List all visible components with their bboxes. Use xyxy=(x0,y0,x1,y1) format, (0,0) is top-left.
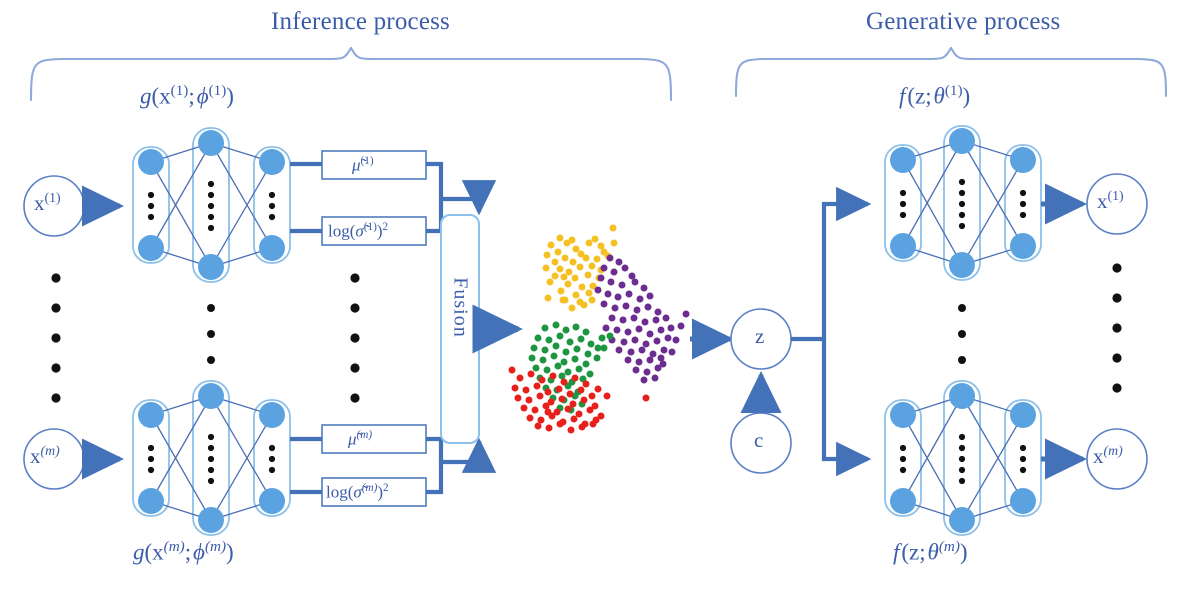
scatter-point xyxy=(678,323,685,330)
scatter-point xyxy=(639,347,646,354)
scatter-point xyxy=(556,386,563,393)
scatter-point xyxy=(643,395,650,402)
scatter-point xyxy=(517,375,524,382)
scatter-point xyxy=(565,406,572,413)
inference-network-2 xyxy=(24,381,479,535)
label-mu-box-m: μ̃(m) xyxy=(348,429,372,450)
scatter-point xyxy=(543,403,550,410)
scatter-point xyxy=(565,369,572,376)
scatter-point xyxy=(548,242,555,249)
scatter-series-cluster-purple xyxy=(595,255,690,384)
scatter-point xyxy=(552,259,559,266)
scatter-point xyxy=(645,304,652,311)
label-input-x1-sup: (1) xyxy=(45,190,61,205)
formula-encoder-1-g: g xyxy=(140,84,152,109)
scatter-point xyxy=(661,347,668,354)
scatter-point xyxy=(632,337,639,344)
scatter-point xyxy=(576,411,583,418)
scatter-point xyxy=(652,375,659,382)
scatter-point xyxy=(586,240,593,247)
scatter-point xyxy=(544,367,551,374)
formula-decoder-m-theta: θ xyxy=(928,540,939,565)
scatter-point xyxy=(665,335,672,342)
scatter-point xyxy=(586,290,593,297)
scatter-point xyxy=(570,259,577,266)
scatter-point xyxy=(608,279,615,286)
scatter-point xyxy=(553,343,560,350)
label-input-xm: x(m) xyxy=(30,443,60,469)
scatter-point xyxy=(585,351,592,358)
scatter-point xyxy=(559,373,566,380)
formula-encoder-m-close: ) xyxy=(226,540,234,565)
label-logsigma-box-1-sup: (1) xyxy=(364,221,377,233)
scatter-point xyxy=(581,302,588,309)
ellipsis-generative-middle xyxy=(958,304,966,364)
scatter-point xyxy=(567,339,574,346)
scatter-point xyxy=(529,355,536,362)
mu-box-2 xyxy=(322,425,426,453)
scatter-point xyxy=(673,337,680,344)
formula-decoder-m-f: f xyxy=(893,540,899,565)
formula-encoder-1: g(x(1); ϕ(1)) xyxy=(140,82,234,110)
scatter-point xyxy=(526,397,533,404)
mu-box-1 xyxy=(322,151,426,179)
scatter-point xyxy=(683,311,690,318)
scatter-point xyxy=(550,373,557,380)
scatter-point xyxy=(566,269,573,276)
label-logsigma-box-m-power: 2 xyxy=(383,482,389,494)
scatter-point xyxy=(641,377,648,384)
formula-encoder-1-xsup: (1) xyxy=(171,82,189,99)
fusion-label-wrap: Fusion xyxy=(430,296,490,319)
scatter-point xyxy=(542,347,549,354)
bus-sigma1-join xyxy=(426,199,441,231)
scatter-point xyxy=(590,421,597,428)
scatter-point xyxy=(621,339,628,346)
label-mu-box-1: μ̃(1) xyxy=(352,155,374,176)
scatter-point xyxy=(642,319,649,326)
scatter-point xyxy=(583,329,590,336)
scatter-point xyxy=(616,259,623,266)
scatter-point xyxy=(588,341,595,348)
scatter-point xyxy=(545,295,552,302)
scatter-point xyxy=(636,359,643,366)
scatter-point xyxy=(535,423,542,430)
formula-encoder-1-phi: ϕ xyxy=(197,84,209,109)
scatter-point xyxy=(572,275,579,282)
label-logsigma-box-m: log(σ̃(m))2 xyxy=(326,482,389,503)
scatter-point xyxy=(668,325,675,332)
scatter-point xyxy=(629,273,636,280)
formula-decoder-m-semi: ; xyxy=(919,540,925,565)
formula-decoder-m-close: ) xyxy=(960,540,968,565)
scatter-point xyxy=(625,357,632,364)
scatter-point xyxy=(589,297,596,304)
brace-label-generative: Generative process xyxy=(866,8,1060,36)
scatter-point xyxy=(578,387,585,394)
scatter-point xyxy=(571,416,578,423)
scatter-point xyxy=(610,225,617,232)
label-logsigma-box-1-sigma: σ̃ xyxy=(355,222,363,241)
label-output-x1: x(1) xyxy=(1097,188,1124,214)
label-logsigma-box-m-sup: (m) xyxy=(362,482,378,494)
scatter-point xyxy=(616,347,623,354)
label-output-xm-sup: (m) xyxy=(1104,443,1123,458)
formula-decoder-1-close: ) xyxy=(963,84,971,109)
label-logsigma-box-m-sigma: σ̃ xyxy=(353,483,361,502)
scatter-point xyxy=(622,265,629,272)
formula-decoder-1: f (z; θ(1)) xyxy=(899,82,970,110)
formula-decoder-1-f: f xyxy=(899,84,905,109)
scatter-point xyxy=(587,371,594,378)
formula-encoder-1-phisup: (1) xyxy=(209,82,227,99)
scatter-point xyxy=(601,265,608,272)
formula-encoder-m-phisup: (m) xyxy=(205,538,226,555)
scatter-point xyxy=(658,327,665,334)
label-input-xm-sup: (m) xyxy=(41,443,60,458)
scatter-point xyxy=(636,326,643,333)
scatter-point xyxy=(555,363,562,370)
label-mu-box-1-sup: (1) xyxy=(361,155,374,167)
scatter-point xyxy=(572,356,579,363)
scatter-point xyxy=(658,355,665,362)
formula-encoder-m: g(x(m); ϕ(m)) xyxy=(133,538,234,566)
scatter-point xyxy=(607,333,614,340)
scatter-point xyxy=(521,405,528,412)
scatter-series-cluster-red xyxy=(509,367,650,434)
scatter-point xyxy=(619,282,626,289)
scatter-point xyxy=(583,361,590,368)
scatter-point xyxy=(570,401,577,408)
scatter-point xyxy=(546,425,553,432)
formula-decoder-1-theta: θ xyxy=(934,84,945,109)
scatter-point xyxy=(560,297,567,304)
scatter-point xyxy=(625,329,632,336)
formula-encoder-m-semi: ; xyxy=(185,540,191,565)
formula-decoder-m-z: z xyxy=(909,540,919,565)
label-mu-box-1-mu: μ̃ xyxy=(352,156,361,175)
brace-inference xyxy=(31,48,671,100)
scatter-point xyxy=(535,335,542,342)
scatter-point xyxy=(532,407,539,414)
formula-encoder-m-x: x xyxy=(152,540,164,565)
scatter-point xyxy=(542,325,549,332)
scatter-point xyxy=(557,266,564,273)
formula-decoder-m: f (z; θ(m)) xyxy=(893,538,968,566)
scatter-point xyxy=(653,317,660,324)
ellipsis-inference-middle xyxy=(207,304,215,364)
ellipsis-inference-left xyxy=(51,273,60,402)
scatter-point xyxy=(598,275,605,282)
scatter-point xyxy=(558,288,565,295)
scatter-point xyxy=(576,366,583,373)
scatter-point xyxy=(660,361,667,368)
scatter-point xyxy=(527,415,534,422)
scatter-point xyxy=(634,307,641,314)
formula-decoder-m-open: ( xyxy=(901,540,909,565)
scatter-point xyxy=(565,281,572,288)
scatter-point xyxy=(569,237,576,244)
scatter-point xyxy=(573,292,580,299)
scatter-point xyxy=(523,387,530,394)
scatter-point xyxy=(569,305,576,312)
scatter-point xyxy=(543,265,550,272)
scatter-point xyxy=(655,309,662,316)
formula-encoder-1-close: ) xyxy=(226,84,234,109)
scatter-point xyxy=(603,325,610,332)
scatter-point xyxy=(581,397,588,404)
label-logsigma-box-1: log(σ̃(1))2 xyxy=(328,221,388,242)
scatter-point xyxy=(515,395,522,402)
scatter-point xyxy=(534,383,541,390)
scatter-point xyxy=(633,367,640,374)
scatter-point xyxy=(547,279,554,286)
scatter-point xyxy=(579,284,586,291)
label-logsigma-box-m-prefix: log( xyxy=(326,483,353,502)
scatter-point xyxy=(533,365,540,372)
scatter-point xyxy=(573,324,580,331)
scatter-point xyxy=(607,255,614,262)
scatter-point xyxy=(544,252,551,259)
scatter-point xyxy=(512,385,519,392)
scatter-point xyxy=(563,349,570,356)
scatter-point xyxy=(538,417,545,424)
formula-decoder-1-z: z xyxy=(915,84,925,109)
scatter-point xyxy=(605,291,612,298)
formula-decoder-1-thetasup: (1) xyxy=(945,82,963,99)
bus-mu2-join xyxy=(426,439,441,462)
scatter-point xyxy=(626,291,633,298)
formula-encoder-m-phi: ϕ xyxy=(193,540,205,565)
scatter-point xyxy=(557,235,564,242)
scatter-point xyxy=(594,355,601,362)
scatter-point xyxy=(561,379,568,386)
scatter-point xyxy=(545,389,552,396)
scatter-point xyxy=(585,272,592,279)
scatter-point xyxy=(583,255,590,262)
scatter-point xyxy=(647,357,654,364)
scatter-point xyxy=(650,351,657,358)
scatter-point xyxy=(561,359,568,366)
scatter-point xyxy=(647,331,654,338)
scatter-point xyxy=(563,327,570,334)
scatter-point xyxy=(615,294,622,301)
scatter-point xyxy=(574,346,581,353)
scatter-point xyxy=(647,293,654,300)
label-logsigma-box-1-prefix: log( xyxy=(328,222,355,241)
scatter-point xyxy=(663,315,670,322)
scatter-point xyxy=(611,269,618,276)
label-output-xm: x(m) xyxy=(1093,443,1123,469)
scatter-point xyxy=(553,322,560,329)
scatter-point xyxy=(573,246,580,253)
fusion-label: Fusion xyxy=(449,277,472,337)
bus-net1-to-fusion xyxy=(426,164,479,212)
scatter-point xyxy=(539,377,546,384)
scatter-point xyxy=(614,327,621,334)
latent-space-scatter xyxy=(509,225,690,434)
label-mu-box-m-mu: μ̃ xyxy=(348,430,357,449)
scatter-point xyxy=(579,424,586,431)
formula-decoder-1-semi: ; xyxy=(925,84,931,109)
scatter-point xyxy=(568,427,575,434)
scatter-point xyxy=(528,371,535,378)
scatter-point xyxy=(562,255,569,262)
scatter-point xyxy=(577,264,584,271)
scatter-point xyxy=(509,367,516,374)
label-c: c xyxy=(754,428,763,453)
scatter-point xyxy=(641,285,648,292)
scatter-point xyxy=(612,305,619,312)
scatter-series-cluster-green xyxy=(529,322,614,414)
diagram-canvas: Inference process Generative process g(x… xyxy=(0,0,1190,602)
scatter-point xyxy=(589,393,596,400)
scatter-point xyxy=(643,341,650,348)
scatter-point xyxy=(604,393,611,400)
scatter-point xyxy=(583,381,590,388)
scatter-point xyxy=(545,409,552,416)
label-logsigma-box-1-power: 2 xyxy=(383,221,389,233)
formula-encoder-1-semi: ; xyxy=(188,84,194,109)
scatter-point xyxy=(669,349,676,356)
scatter-point xyxy=(537,393,544,400)
label-input-xm-base: x xyxy=(30,444,41,468)
scatter-point xyxy=(551,353,558,360)
ellipsis-inference-right xyxy=(350,273,359,402)
bus-net2-to-fusion xyxy=(426,441,479,492)
label-input-x1-base: x xyxy=(34,191,45,215)
scatter-point xyxy=(592,236,599,243)
scatter-point xyxy=(598,243,605,250)
scatter-point xyxy=(557,333,564,340)
formula-encoder-m-xsup: (m) xyxy=(164,538,185,555)
scatter-point xyxy=(595,345,602,352)
label-input-x1: x(1) xyxy=(34,190,61,216)
scatter-point xyxy=(609,315,616,322)
scatter-point xyxy=(540,357,547,364)
scatter-point xyxy=(654,338,661,345)
inference-network-1 xyxy=(24,128,479,282)
label-output-x1-base: x xyxy=(1097,189,1108,213)
scatter-point xyxy=(601,301,608,308)
scatter-point xyxy=(559,396,566,403)
scatter-point xyxy=(620,317,627,324)
scatter-point xyxy=(561,274,568,281)
scatter-point xyxy=(637,296,644,303)
formula-decoder-1-open: ( xyxy=(907,84,915,109)
scatter-point xyxy=(611,240,618,247)
scatter-point xyxy=(552,273,559,280)
scatter-point xyxy=(644,369,651,376)
brace-label-inference: Inference process xyxy=(271,8,450,36)
scatter-point xyxy=(531,345,538,352)
formula-encoder-1-x: x xyxy=(159,84,171,109)
scatter-point xyxy=(594,256,601,263)
scatter-point xyxy=(632,279,639,286)
ellipsis-generative-right xyxy=(1112,263,1121,392)
scatter-point xyxy=(546,337,553,344)
bus-z-to-decoderm xyxy=(824,339,868,459)
scatter-point xyxy=(589,263,596,270)
scatter-point xyxy=(631,315,638,322)
label-z: z xyxy=(755,324,764,349)
formula-encoder-m-g: g xyxy=(133,540,145,565)
scatter-point xyxy=(601,345,608,352)
scatter-point xyxy=(595,386,602,393)
scatter-point xyxy=(587,407,594,414)
scatter-point xyxy=(628,349,635,356)
scatter-point xyxy=(623,303,630,310)
scatter-point xyxy=(555,249,562,256)
scatter-point xyxy=(567,391,574,398)
scatter-point xyxy=(557,421,564,428)
formula-decoder-m-thetasup: (m) xyxy=(939,538,960,555)
label-mu-box-m-sup: (m) xyxy=(357,429,373,441)
bus-z-to-decoder1 xyxy=(824,204,868,339)
scatter-point xyxy=(599,335,606,342)
scatter-point xyxy=(572,375,579,382)
scatter-point xyxy=(578,336,585,343)
label-output-xm-base: x xyxy=(1093,444,1104,468)
label-output-x1-sup: (1) xyxy=(1108,188,1124,203)
scatter-point xyxy=(595,287,602,294)
